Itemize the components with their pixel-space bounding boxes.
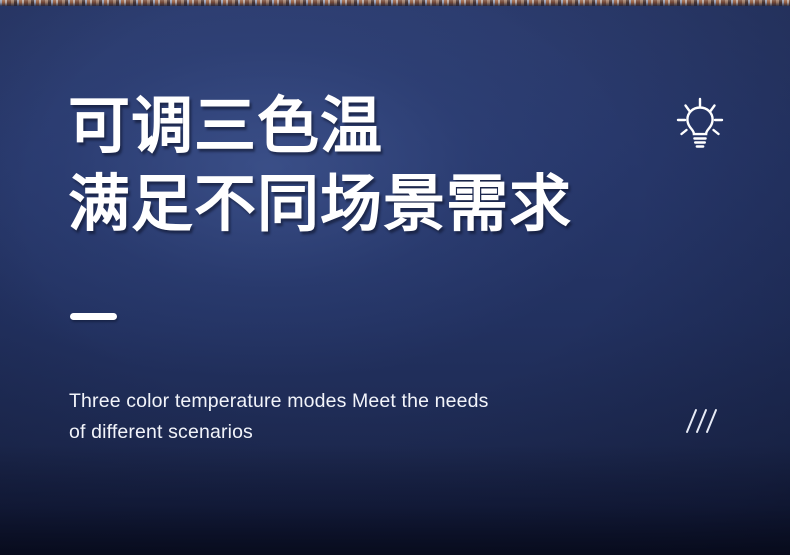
slashes-decoration-icon: [682, 406, 722, 436]
wood-floor-strip: [0, 0, 790, 6]
subtitle: Three color temperature modes Meet the n…: [69, 386, 489, 448]
light-bulb-icon: [673, 97, 727, 155]
divider-rule: [70, 313, 117, 320]
subtitle-line-2: of different scenarios: [69, 417, 489, 448]
background-bottom-fade: [0, 445, 790, 555]
headline-line-2: 满足不同场景需求: [68, 166, 572, 244]
wood-strip-shading: [0, 0, 790, 6]
subtitle-line-1: Three color temperature modes Meet the n…: [69, 386, 489, 417]
product-feature-banner: 可调三色温 满足不同场景需求 Three color temperature m…: [0, 0, 790, 555]
headline-line-1: 可调三色温: [68, 88, 572, 166]
headline: 可调三色温 满足不同场景需求: [68, 88, 572, 244]
